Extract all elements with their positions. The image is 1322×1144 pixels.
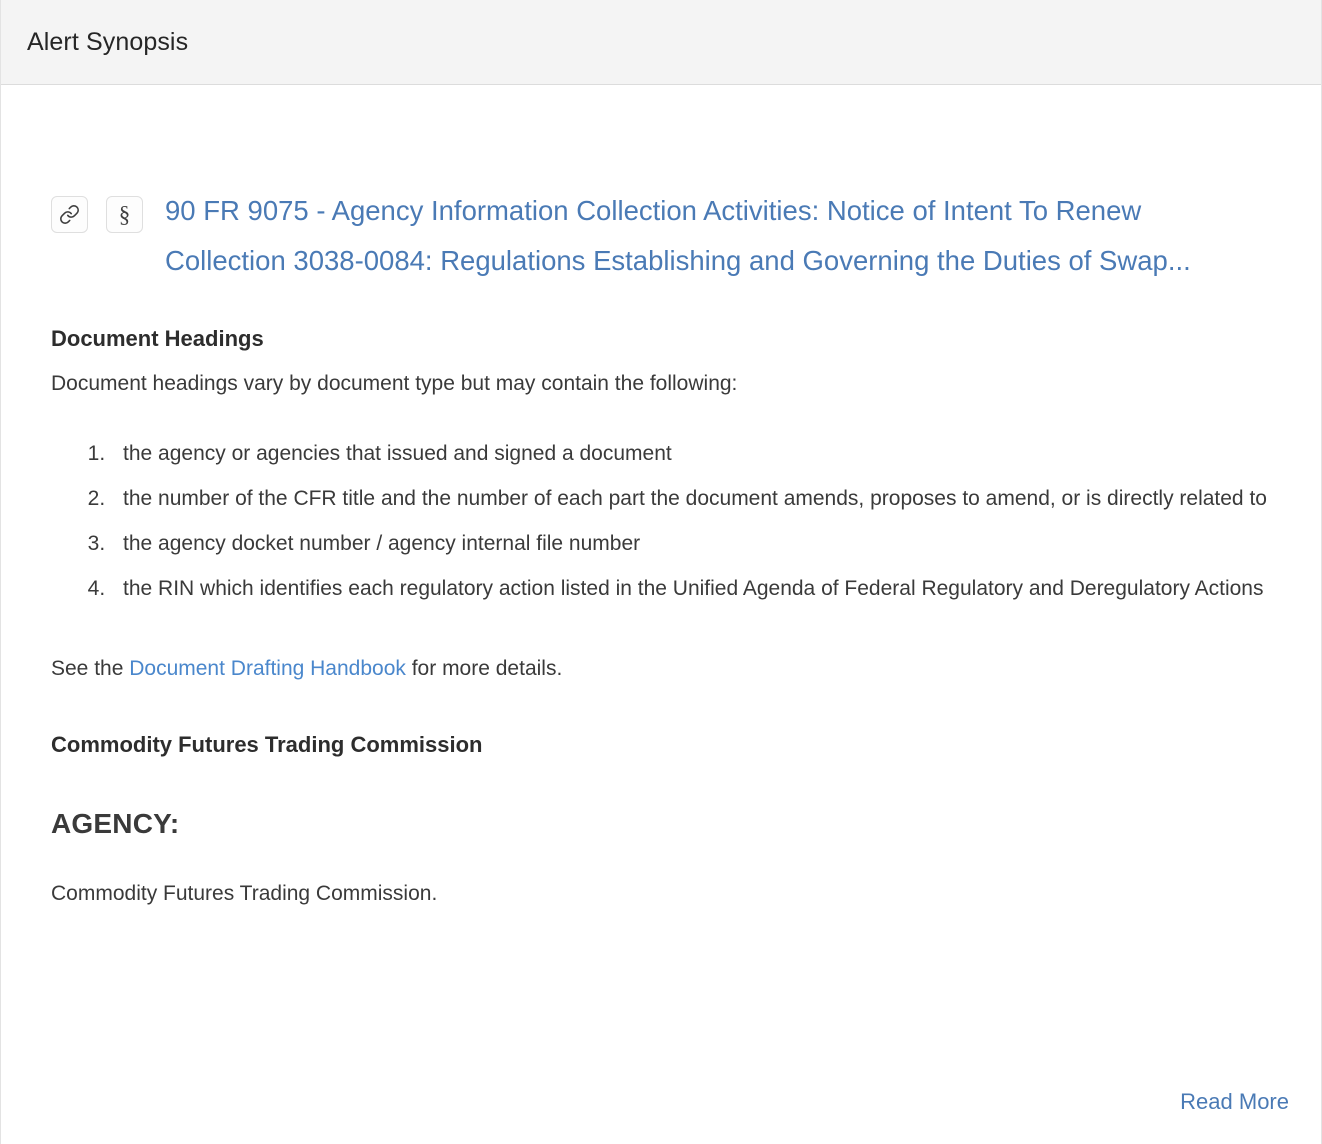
agency-value: Commodity Futures Trading Commission. — [51, 879, 1271, 909]
list-item: the agency or agencies that issued and s… — [111, 431, 1271, 476]
document-headings-heading: Document Headings — [51, 326, 1271, 352]
organization-heading: Commodity Futures Trading Commission — [51, 732, 1271, 758]
document-headings-intro: Document headings vary by document type … — [51, 369, 1266, 399]
document-title-link[interactable]: 90 FR 9075 - Agency Information Collecti… — [165, 186, 1237, 286]
card-body: § 90 FR 9075 - Agency Information Collec… — [1, 85, 1321, 1143]
read-more-row: Read More — [1180, 1089, 1289, 1115]
see-handbook-prefix: See the — [51, 657, 129, 680]
document-headings-list: the agency or agencies that issued and s… — [51, 431, 1271, 611]
see-handbook-paragraph: See the Document Drafting Handbook for m… — [51, 654, 1266, 684]
card-header: Alert Synopsis — [1, 0, 1321, 85]
section-symbol-icon: § — [119, 203, 131, 226]
alert-synopsis-card: Alert Synopsis § 90 FR 9075 - Agency Inf… — [0, 0, 1322, 1144]
agency-label: AGENCY: — [51, 808, 1271, 840]
link-icon-button[interactable] — [51, 196, 88, 233]
list-item: the number of the CFR title and the numb… — [111, 476, 1271, 521]
link-icon — [59, 204, 80, 225]
list-item: the RIN which identifies each regulatory… — [111, 566, 1271, 611]
read-more-link[interactable]: Read More — [1180, 1089, 1289, 1114]
page-title: Alert Synopsis — [27, 28, 188, 57]
section-symbol-button[interactable]: § — [106, 196, 143, 233]
document-drafting-handbook-link[interactable]: Document Drafting Handbook — [129, 657, 406, 680]
document-title-row: § 90 FR 9075 - Agency Information Collec… — [51, 85, 1271, 286]
see-handbook-suffix: for more details. — [406, 657, 562, 680]
list-item: the agency docket number / agency intern… — [111, 521, 1271, 566]
